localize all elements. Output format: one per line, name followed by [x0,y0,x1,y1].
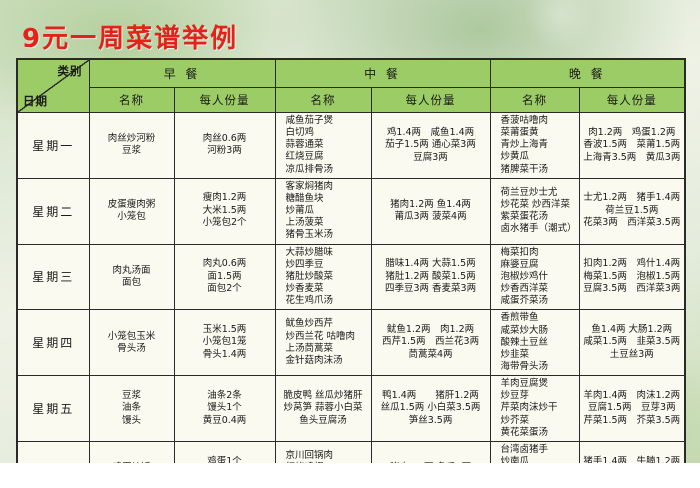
cell-line: 鸡蛋炒饭 [93,462,171,463]
cell-line: 茼蒿菜4两 [375,349,487,362]
cell-line: 黄花菜蛋汤 [501,427,576,439]
cell-line: 小笼包玉米 [93,331,171,343]
corner-date-label: 日期 [23,93,48,109]
cell-line: 骨头1.4两 [178,349,272,362]
cell-line: 鸭1.4两 猪肝1.2两 [375,390,487,403]
cell-line: 笋丝3.5两 [375,415,487,428]
cell-line: 炒莆瓜 [286,205,368,217]
cell-line: 馒头 [93,415,171,427]
cell-breakfast-portion: 肉丝0.6两河粉3两 [174,113,275,179]
cell-dinner-name: 香菠咕噜肉菜莆蛋黄青炒上海青炒黄瓜猪脾菜干汤 [490,113,579,179]
subheader-lunch-name: 名称 [275,87,371,112]
cell-dinner-name: 羊肉豆腐煲炒豆芽芹菜肉沫炒干炒芥菜黄花菜蛋汤 [490,376,579,442]
cell-line: 油条 [93,402,171,414]
cell-line: 香波1.5两 菜莆1.5两 [583,139,682,152]
cell-lunch-portion: 猪肉1.2两 冬瓜3两鸡翅1.4两 生菜3.5两 [371,441,490,463]
cell-breakfast-name: 皮蛋瘦肉粥小笼包 [89,178,174,244]
table-row: 星期三肉丸汤面面包肉丸0.6两面1.5两面包2个大蒜炒腊味炒四季豆猪肚炒酸菜炒香… [17,244,685,310]
cell-line: 猪肚1.2两 酸菜1.5两 [375,271,487,284]
cell-line: 肉丝炒河粉 [93,133,171,145]
cell-line: 小笼包 [93,211,171,223]
cell-line: 炒豆芽 [501,390,576,402]
table-row: 星期五豆浆油条馒头油条2条馒头1个黄豆0.4两脆皮鸭 丝瓜炒猪肝炒莴笋 蒜蓉小白… [17,376,685,442]
cell-line: 面1.5两 [178,271,272,284]
table-row: 星期一肉丝炒河粉豆浆肉丝0.6两河粉3两咸鱼茄子煲白切鸡蒜蓉通菜红烧豆腐凉瓜排骨… [17,113,685,179]
cell-line: 鱼1.4两 大肠1.2两 [583,324,682,337]
cell-line: 猪肚炒酸菜 [286,271,368,283]
cell-line: 客家焖猪肉 [286,181,368,193]
cell-line: 猪手1.4两 牛腩1.2两 [583,456,682,464]
cell-line: 豆浆 [93,390,171,402]
cell-line: 腊味1.4两 大蒜1.5两 [375,258,487,271]
cell-line: 猪骨玉米汤 [286,229,368,241]
cell-breakfast-portion: 鸡蛋1个米饭4两肉丝1.2两 [174,441,275,463]
cell-line: 鱿鱼1.2两 肉1.2两 [375,324,487,337]
cell-line: 丝瓜1.5两 小白菜3.5两 [375,402,487,415]
day-label: 星期四 [17,310,89,376]
cell-line: 咸菜1.5两 韭菜3.5两 [583,336,682,349]
cell-line: 花菜3两 西洋菜3.5两 [583,217,682,230]
corner-category-label: 类别 [58,63,83,79]
cell-line: 瘦肉1.2两 [178,192,272,205]
cell-line: 上海青3.5两 黄瓜3两 [583,152,682,165]
cell-line: 麻婆豆腐 [501,259,576,271]
table-row: 星期二皮蛋瘦肉粥小笼包瘦肉1.2两大米1.5两小笼包2个客家焖猪肉糖醋鱼块炒莆瓜… [17,178,685,244]
cell-lunch-portion: 鱿鱼1.2两 肉1.2两西芹1.5两 西兰花3两茼蒿菜4两 [371,310,490,376]
subheader-dinner-portion: 每人份量 [579,87,685,112]
cell-breakfast-name: 豆浆油条馒头 [89,376,174,442]
header-row-subcolumns: 名称 每人份量 名称 每人份量 名称 每人份量 [17,87,685,112]
cell-lunch-name: 咸鱼茄子煲白切鸡蒜蓉通菜红烧豆腐凉瓜排骨汤 [275,113,371,179]
cell-line: 梅菜1.5两 泡椒1.5两 [583,271,682,284]
cell-line: 猪肉1.2两 鱼1.4两 [375,199,487,212]
cell-line: 红烧豆腐 [286,151,368,163]
cell-lunch-portion: 猪肉1.2两 鱼1.4两莆瓜3两 菠菜4两 [371,178,490,244]
cell-line: 莆瓜3两 菠菜4两 [375,211,487,224]
cell-lunch-portion: 鸡1.4两 咸鱼1.4两茄子1.5两 通心菜3两豆腐3两 [371,113,490,179]
cell-breakfast-name: 鸡蛋炒饭三鲜汤 [89,441,174,463]
cell-dinner-portion: 猪手1.4两 牛腩1.2两土豆1.5两 南瓜3两菜心3.5两 [579,441,685,463]
cell-lunch-name: 客家焖猪肉糖醋鱼块炒莆瓜上汤菠菜猪骨玉米汤 [275,178,371,244]
day-label: 星期二 [17,178,89,244]
cell-line: 香煎带鱼 [501,312,576,324]
cell-line: 炒韭菜 [501,349,576,361]
cell-line: 豆浆 [93,145,171,157]
cell-dinner-name: 台湾卤猪手炒南瓜土豆烧牛腩咸水菜心猪骨萝卜汤 [490,441,579,463]
cell-line: 土豆丝3两 [583,349,682,362]
cell-dinner-name: 荷兰豆炒士尤炒花菜 炒西洋菜紫菜蛋花汤卤水猪手（潮式） [490,178,579,244]
cell-line: 梅菜扣肉 [501,247,576,259]
cell-line: 士尤1.2两 猪手1.4两 [583,192,682,205]
cell-line: 白切鸡 [286,127,368,139]
table-row: 星期六鸡蛋炒饭三鲜汤鸡蛋1个米饭4两肉丝1.2两京川回锅肉红烧鸡翅炒冬瓜 炒生菜… [17,441,685,463]
header-breakfast: 早 餐 [89,59,275,87]
cell-line: 小笼包1笼 [178,336,272,349]
cell-line: 河粉3两 [178,145,272,158]
cell-line: 四季豆3两 香麦菜3两 [375,283,487,296]
cell-line: 豆腐3两 [375,152,487,165]
cell-lunch-portion: 鸭1.4两 猪肝1.2两丝瓜1.5两 小白菜3.5两笋丝3.5两 [371,376,490,442]
cell-line: 京川回锅肉 [286,450,368,462]
cell-line: 骨头汤 [93,343,171,355]
cell-line: 咸鱼茄子煲 [286,115,368,127]
cell-line: 羊肉1.4两 肉沫1.2两 [583,390,682,403]
cell-line: 咸菜炒大肠 [501,325,576,337]
cell-dinner-portion: 羊肉1.4两 肉沫1.2两豆腐1.5两 豆芽3两芹菜1.5两 芥菜3.5两 [579,376,685,442]
cell-line: 面包 [93,277,171,289]
cell-breakfast-name: 小笼包玉米骨头汤 [89,310,174,376]
header-lunch: 中 餐 [275,59,490,87]
cell-line: 炒黄瓜 [501,151,576,163]
cell-line: 羊肉豆腐煲 [501,378,576,390]
cell-line: 扣肉1.2两 鸡什1.4两 [583,258,682,271]
cell-line: 金针菇肉沫汤 [286,355,368,367]
cell-dinner-portion: 士尤1.2两 猪手1.4两荷兰豆1.5两花菜3两 西洋菜3.5两 [579,178,685,244]
cell-line: 青炒上海青 [501,139,576,151]
subheader-breakfast-name: 名称 [89,87,174,112]
cell-line: 芹菜肉沫炒干 [501,402,576,414]
cell-line: 菜莆蛋黄 [501,127,576,139]
cell-line: 台湾卤猪手 [501,444,576,456]
subheader-dinner-name: 名称 [490,87,579,112]
cell-breakfast-portion: 玉米1.5两小笼包1笼骨头1.4两 [174,310,275,376]
cell-line: 紫菜蛋花汤 [501,211,576,223]
cell-line: 玉米1.5两 [178,324,272,337]
cell-line: 蒜蓉通菜 [286,139,368,151]
cell-breakfast-portion: 油条2条馒头1个黄豆0.4两 [174,376,275,442]
cell-line: 鱼头豆腐汤 [279,415,368,427]
cell-line: 泡椒炒鸡什 [501,271,576,283]
cell-line: 炒芥菜 [501,415,576,427]
cell-line: 红烧鸡翅 [286,462,368,463]
cell-dinner-portion: 肉1.2两 鸡蛋1.2两香波1.5两 菜莆1.5两上海青3.5两 黄瓜3两 [579,113,685,179]
table-row: 星期四小笼包玉米骨头汤玉米1.5两小笼包1笼骨头1.4两鱿鱼炒西芹炒西兰花 咕噜… [17,310,685,376]
cell-line: 荷兰豆炒士尤 [501,187,576,199]
cell-line: 黄豆0.4两 [178,415,272,428]
cell-lunch-portion: 腊味1.4两 大蒜1.5两猪肚1.2两 酸菜1.5两四季豆3两 香麦菜3两 [371,244,490,310]
cell-line: 猪脾菜干汤 [501,164,576,176]
cell-line: 豆腐3.5两 西洋菜3两 [583,283,682,296]
cell-line: 芹菜1.5两 芥菜3.5两 [583,415,682,428]
cell-breakfast-portion: 瘦肉1.2两大米1.5两小笼包2个 [174,178,275,244]
subheader-breakfast-portion: 每人份量 [174,87,275,112]
cell-dinner-portion: 扣肉1.2两 鸡什1.4两梅菜1.5两 泡椒1.5两豆腐3.5两 西洋菜3两 [579,244,685,310]
cell-line: 鸡蛋1个 [178,456,272,464]
cell-line: 上汤茼蒿菜 [286,343,368,355]
cell-line: 凉瓜排骨汤 [286,164,368,176]
cell-line: 猪肉1.2两 冬瓜3两 [375,462,487,463]
subheader-lunch-portion: 每人份量 [371,87,490,112]
cell-dinner-name: 香煎带鱼咸菜炒大肠酸辣土豆丝炒韭菜海带骨头汤 [490,310,579,376]
cell-line: 肉丸汤面 [93,265,171,277]
cell-line: 肉1.2两 鸡蛋1.2两 [583,127,682,140]
cell-dinner-portion: 鱼1.4两 大肠1.2两咸菜1.5两 韭菜3.5两土豆丝3两 [579,310,685,376]
cell-line: 炒南瓜 [501,456,576,463]
cell-breakfast-name: 肉丝炒河粉豆浆 [89,113,174,179]
cell-line: 咸蛋芥菜汤 [501,295,576,307]
cell-lunch-name: 鱿鱼炒西芹炒西兰花 咕噜肉上汤茼蒿菜金针菇肉沫汤 [275,310,371,376]
cell-line: 面包2个 [178,283,272,296]
cell-dinner-name: 梅菜扣肉麻婆豆腐泡椒炒鸡什炒香西洋菜咸蛋芥菜汤 [490,244,579,310]
cell-line: 鸡1.4两 咸鱼1.4两 [375,127,487,140]
table-header: 类别 日期 早 餐 中 餐 晚 餐 名称 每人份量 名称 每人份量 名称 每人份… [17,59,685,113]
day-label: 星期五 [17,376,89,442]
cell-line: 糖醋鱼块 [286,193,368,205]
header-dinner: 晚 餐 [490,59,685,87]
weekly-menu-table: 类别 日期 早 餐 中 餐 晚 餐 名称 每人份量 名称 每人份量 名称 每人份… [16,58,686,463]
cell-line: 皮蛋瘦肉粥 [93,199,171,211]
cell-line: 大蒜炒腊味 [286,247,368,259]
cell-line: 炒花菜 炒西洋菜 [501,199,576,211]
cell-lunch-name: 大蒜炒腊味炒四季豆猪肚炒酸菜炒香麦菜花生鸡爪汤 [275,244,371,310]
cell-line: 炒四季豆 [286,259,368,271]
day-label: 星期三 [17,244,89,310]
cell-line: 荷兰豆1.5两 [583,205,682,218]
cell-line: 西芹1.5两 西兰花3两 [375,336,487,349]
cell-line: 肉丝0.6两 [178,133,272,146]
cell-breakfast-name: 肉丸汤面面包 [89,244,174,310]
cell-line: 脆皮鸭 丝瓜炒猪肝 [279,390,368,402]
cell-line: 海带骨头汤 [501,361,576,373]
cell-line: 炒莴笋 蒜蓉小白菜 [279,402,368,414]
cell-line: 豆腐1.5两 豆芽3两 [583,402,682,415]
table-body: 星期一肉丝炒河粉豆浆肉丝0.6两河粉3两咸鱼茄子煲白切鸡蒜蓉通菜红烧豆腐凉瓜排骨… [17,113,685,464]
poster-background: 9元一周菜谱举例 类别 日期 早 餐 中 餐 晚 餐 名称 每人份量 名称 [0,0,700,463]
cell-line: 肉丸0.6两 [178,258,272,271]
cell-line: 馒头1个 [178,402,272,415]
day-label: 星期六 [17,441,89,463]
cell-breakfast-portion: 肉丸0.6两面1.5两面包2个 [174,244,275,310]
cell-line: 炒西兰花 咕噜肉 [286,331,368,343]
page-title: 9元一周菜谱举例 [22,18,238,55]
cell-line: 小笼包2个 [178,217,272,230]
cell-line: 卤水猪手（潮式） [501,223,576,235]
cell-line: 茄子1.5两 通心菜3两 [375,139,487,152]
cell-lunch-name: 京川回锅肉红烧鸡翅炒冬瓜 炒生菜冬菇肉片汤 [275,441,371,463]
cell-line: 大米1.5两 [178,205,272,218]
cell-line: 炒香西洋菜 [501,283,576,295]
cell-line: 炒香麦菜 [286,283,368,295]
cell-line: 花生鸡爪汤 [286,295,368,307]
cell-line: 鱿鱼炒西芹 [286,318,368,330]
cell-line: 上汤菠菜 [286,217,368,229]
cell-line: 香菠咕噜肉 [501,115,576,127]
corner-header-cell: 类别 日期 [17,59,89,113]
cell-lunch-name: 脆皮鸭 丝瓜炒猪肝炒莴笋 蒜蓉小白菜鱼头豆腐汤 [275,376,371,442]
cell-line: 酸辣土豆丝 [501,337,576,349]
header-row-meals: 类别 日期 早 餐 中 餐 晚 餐 [17,59,685,87]
cell-line: 油条2条 [178,390,272,403]
day-label: 星期一 [17,113,89,179]
